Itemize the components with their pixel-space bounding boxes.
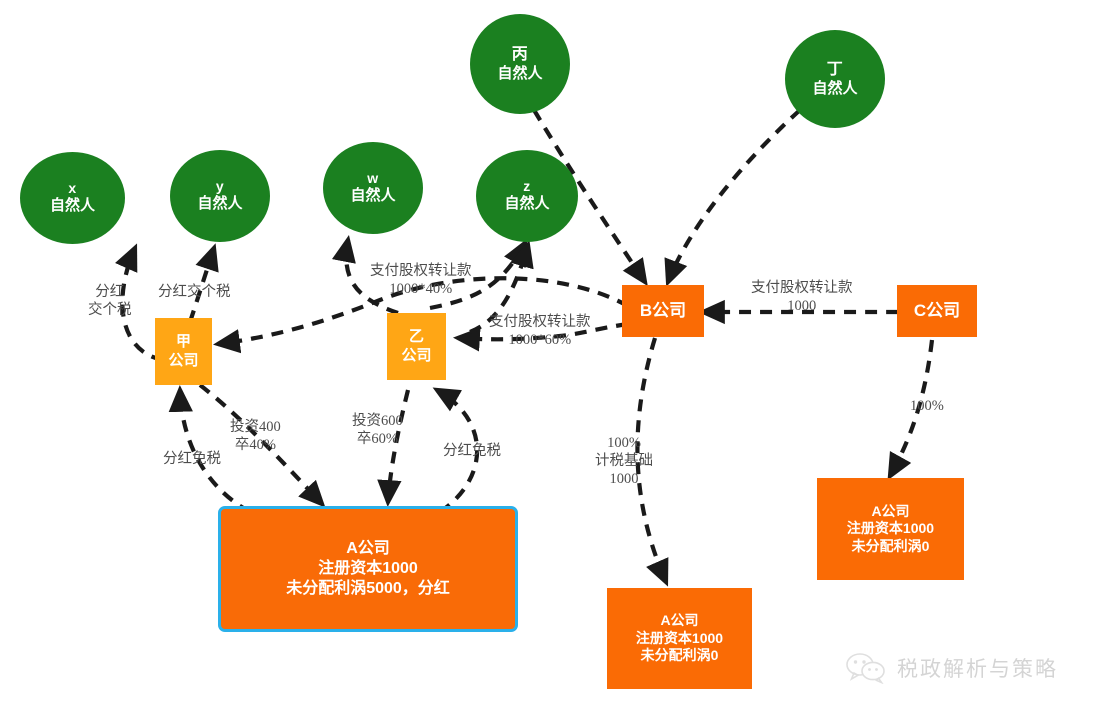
person-node-x[interactable]: x 自然人 [20,152,125,244]
edge-label-y-dividend: 分红交个税 [158,283,231,301]
company-label-line3: 未分配利涡0 [641,647,719,665]
wechat-icon [846,652,888,684]
person-node-bing[interactable]: 丙 自然人 [470,14,570,114]
company-node-a-bottom[interactable]: A公司 注册资本1000 未分配利涡0 [607,588,752,689]
edge-label-line2: 1000*40% [370,280,472,298]
edge-label-line2: 1000*60% [489,331,591,349]
person-label-sub: 自然人 [812,80,857,99]
company-label-line1: C公司 [914,300,960,321]
person-label-sub: 自然人 [350,187,395,206]
company-label-line1: 甲 [176,333,191,352]
edge-label-line2: 卒60% [352,430,403,448]
company-label-line1: 乙 [409,328,424,347]
edge-label-pay-equity-c: 支付股权转让款 1000 [751,279,853,315]
edge-label-line2: 卒40% [230,436,281,454]
person-node-z[interactable]: z 自然人 [476,150,578,242]
edge-label-line1: 100% [595,434,653,452]
edge-label-pay-equity-40: 支付股权转让款 1000*40% [370,262,472,298]
company-label-line2: 公司 [401,347,431,366]
person-label-name: x [68,180,76,198]
watermark: 税政解析与策略 [846,652,1058,684]
edge-ding-to-b [668,110,800,282]
company-label-line1: A公司 [346,539,390,559]
edge-label-tax-free-left: 分红免税 [163,450,221,468]
edge-label-line1: 分红免税 [163,450,221,468]
watermark-text: 税政解析与策略 [897,653,1058,683]
diagram-canvas: x 自然人 y 自然人 w 自然人 z 自然人 丙 自然人 丁 自然人 甲 公司… [0,0,1110,723]
company-label-line1: B公司 [640,300,686,321]
edge-label-c-to-a: 100% [910,397,944,415]
company-node-c[interactable]: C公司 [897,285,977,337]
edge-label-b-to-a: 100% 计税基础 1000 [595,434,653,488]
edge-label-line1: 投资400 [230,418,281,436]
company-node-a-main[interactable]: A公司 注册资本1000 未分配利涡5000，分红 [218,506,518,632]
company-node-a-right[interactable]: A公司 注册资本1000 未分配利涡0 [817,478,964,580]
company-label-line1: A公司 [660,612,698,630]
edge-label-invest-600: 投资600 卒60% [352,412,403,448]
company-label-line3: 未分配利涡5000，分红 [286,579,450,599]
person-node-y[interactable]: y 自然人 [170,150,270,242]
edge-label-line1: 分红交个税 [158,283,231,301]
company-label-line2: 注册资本1000 [318,559,418,579]
company-node-jia[interactable]: 甲 公司 [155,318,212,385]
company-label-line2: 注册资本1000 [847,520,934,538]
edge-label-line1: 支付股权转让款 [370,262,472,280]
edge-label-line1: 100% [910,397,944,415]
person-node-w[interactable]: w 自然人 [323,142,423,234]
edge-label-line1: 支付股权转让款 [489,313,591,331]
company-node-b[interactable]: B公司 [622,285,704,337]
person-label-sub: 自然人 [50,197,95,216]
edge-label-line1: 分红免税 [443,442,501,460]
person-label-sub: 自然人 [197,195,242,214]
edge-label-line2: 交个税 [88,301,132,319]
edge-label-invest-400: 投资400 卒40% [230,418,281,454]
edge-label-line1: 投资600 [352,412,403,430]
edge-label-line2: 1000 [751,297,853,315]
company-node-yi[interactable]: 乙 公司 [387,313,446,380]
person-label-name: w [367,170,378,188]
edge-label-line1: 分红 [88,283,132,301]
company-label-line2: 注册资本1000 [636,630,723,648]
edge-label-x-dividend: 分红 交个税 [88,283,132,319]
edge-label-line2: 计税基础 [595,452,653,470]
company-label-line1: A公司 [871,503,909,521]
company-label-line2: 公司 [168,352,198,371]
person-label-name: z [523,178,531,196]
edge-label-line3: 1000 [595,470,653,488]
person-label-name: 丁 [827,60,844,80]
person-label-name: y [216,178,224,196]
edge-label-pay-equity-60: 支付股权转让款 1000*60% [489,313,591,349]
person-node-ding[interactable]: 丁 自然人 [785,30,885,128]
edge-label-line1: 支付股权转让款 [751,279,853,297]
edge-label-tax-free-right: 分红免税 [443,442,501,460]
company-label-line3: 未分配利涡0 [852,538,930,556]
person-label-sub: 自然人 [504,195,549,214]
person-label-sub: 自然人 [497,65,542,84]
person-label-name: 丙 [512,45,529,65]
